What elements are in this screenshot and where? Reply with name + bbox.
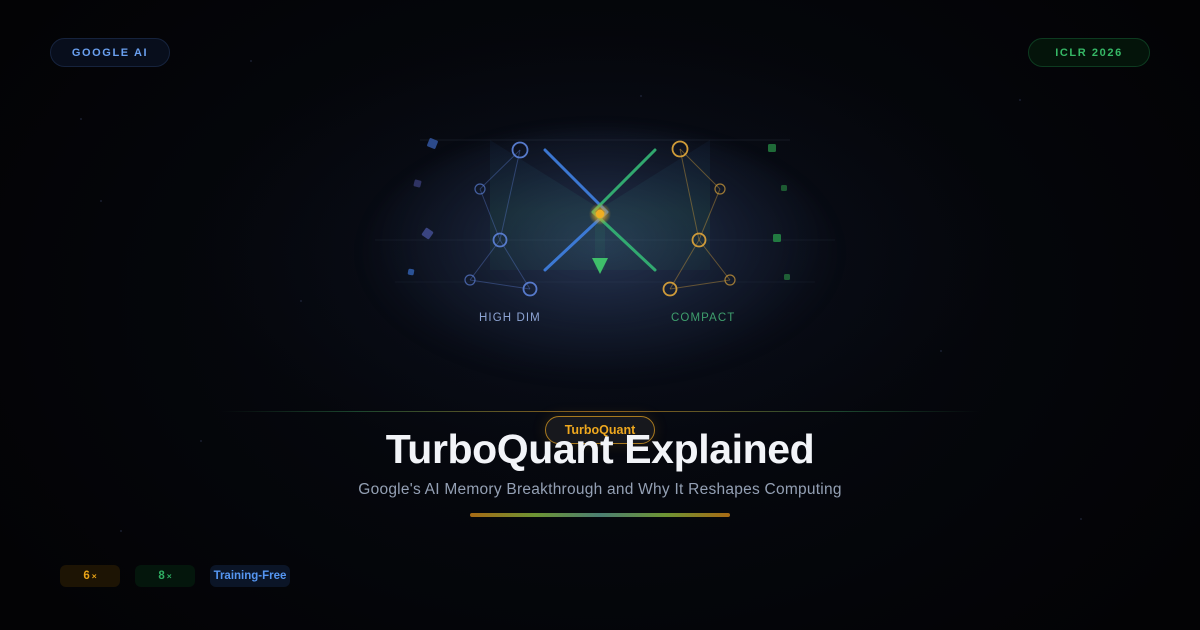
badge-iclr-2026: ICLR 2026 [1028,38,1150,67]
page-subtitle: Google's AI Memory Breakthrough and Why … [0,481,1200,499]
background-dot [120,530,122,532]
particle [784,274,790,280]
section-divider [220,411,980,412]
page-title: TurboQuant Explained [0,426,1200,473]
label-high-dim: HIGH DIM [479,312,541,324]
stat-value: 6 [83,570,89,582]
stat-value: Training-Free [214,570,287,582]
badge-google-ai: GOOGLE AI [50,38,170,67]
stat-unit: × [92,571,97,581]
accent-bar [470,513,730,517]
stat-badge: 6× [60,565,120,587]
hero-diagram-svg [0,110,1200,395]
particle [408,269,415,276]
stat-badge: 8× [135,565,195,587]
background-dot [250,60,252,62]
stat-unit: × [167,571,172,581]
background-dot [1080,518,1082,520]
stat-badge: Training-Free [210,565,290,587]
background-dot [640,95,642,97]
stat-value: 8 [158,570,164,582]
hero-graphic: HIGH DIM COMPACT TurboQuant [0,110,1200,395]
particle [768,144,776,152]
label-compact: COMPACT [671,312,735,324]
background-dot [1019,99,1021,101]
particle [781,185,787,191]
particle [773,234,781,242]
